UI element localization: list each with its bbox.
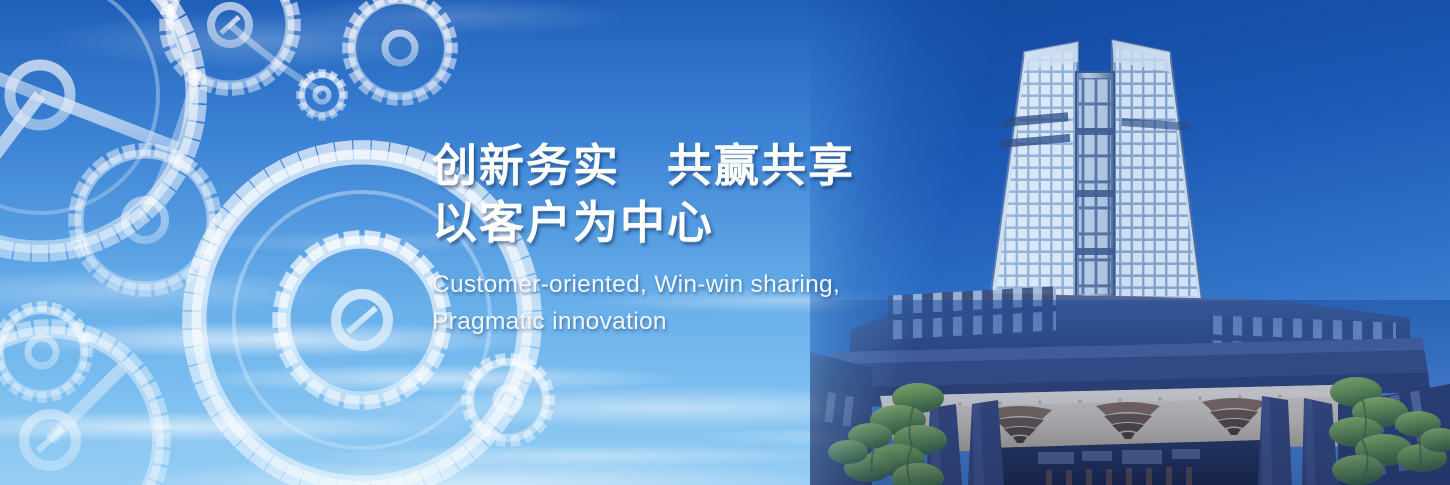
company-banner: 创新务实 共赢共享 以客户为中心 Customer-oriented, Win-… xyxy=(0,0,1450,485)
headline-line-2: 以客户为中心 xyxy=(432,197,855,249)
office-tower-photo xyxy=(810,0,1450,485)
subtitle-line-1: Customer-oriented, Win-win sharing, xyxy=(432,266,855,303)
headline-line-1: 创新务实 共赢共享 xyxy=(432,140,855,192)
banner-copy: 创新务实 共赢共享 以客户为中心 Customer-oriented, Win-… xyxy=(432,140,855,340)
subtitle-line-2: Pragmatic innovation xyxy=(432,303,855,340)
